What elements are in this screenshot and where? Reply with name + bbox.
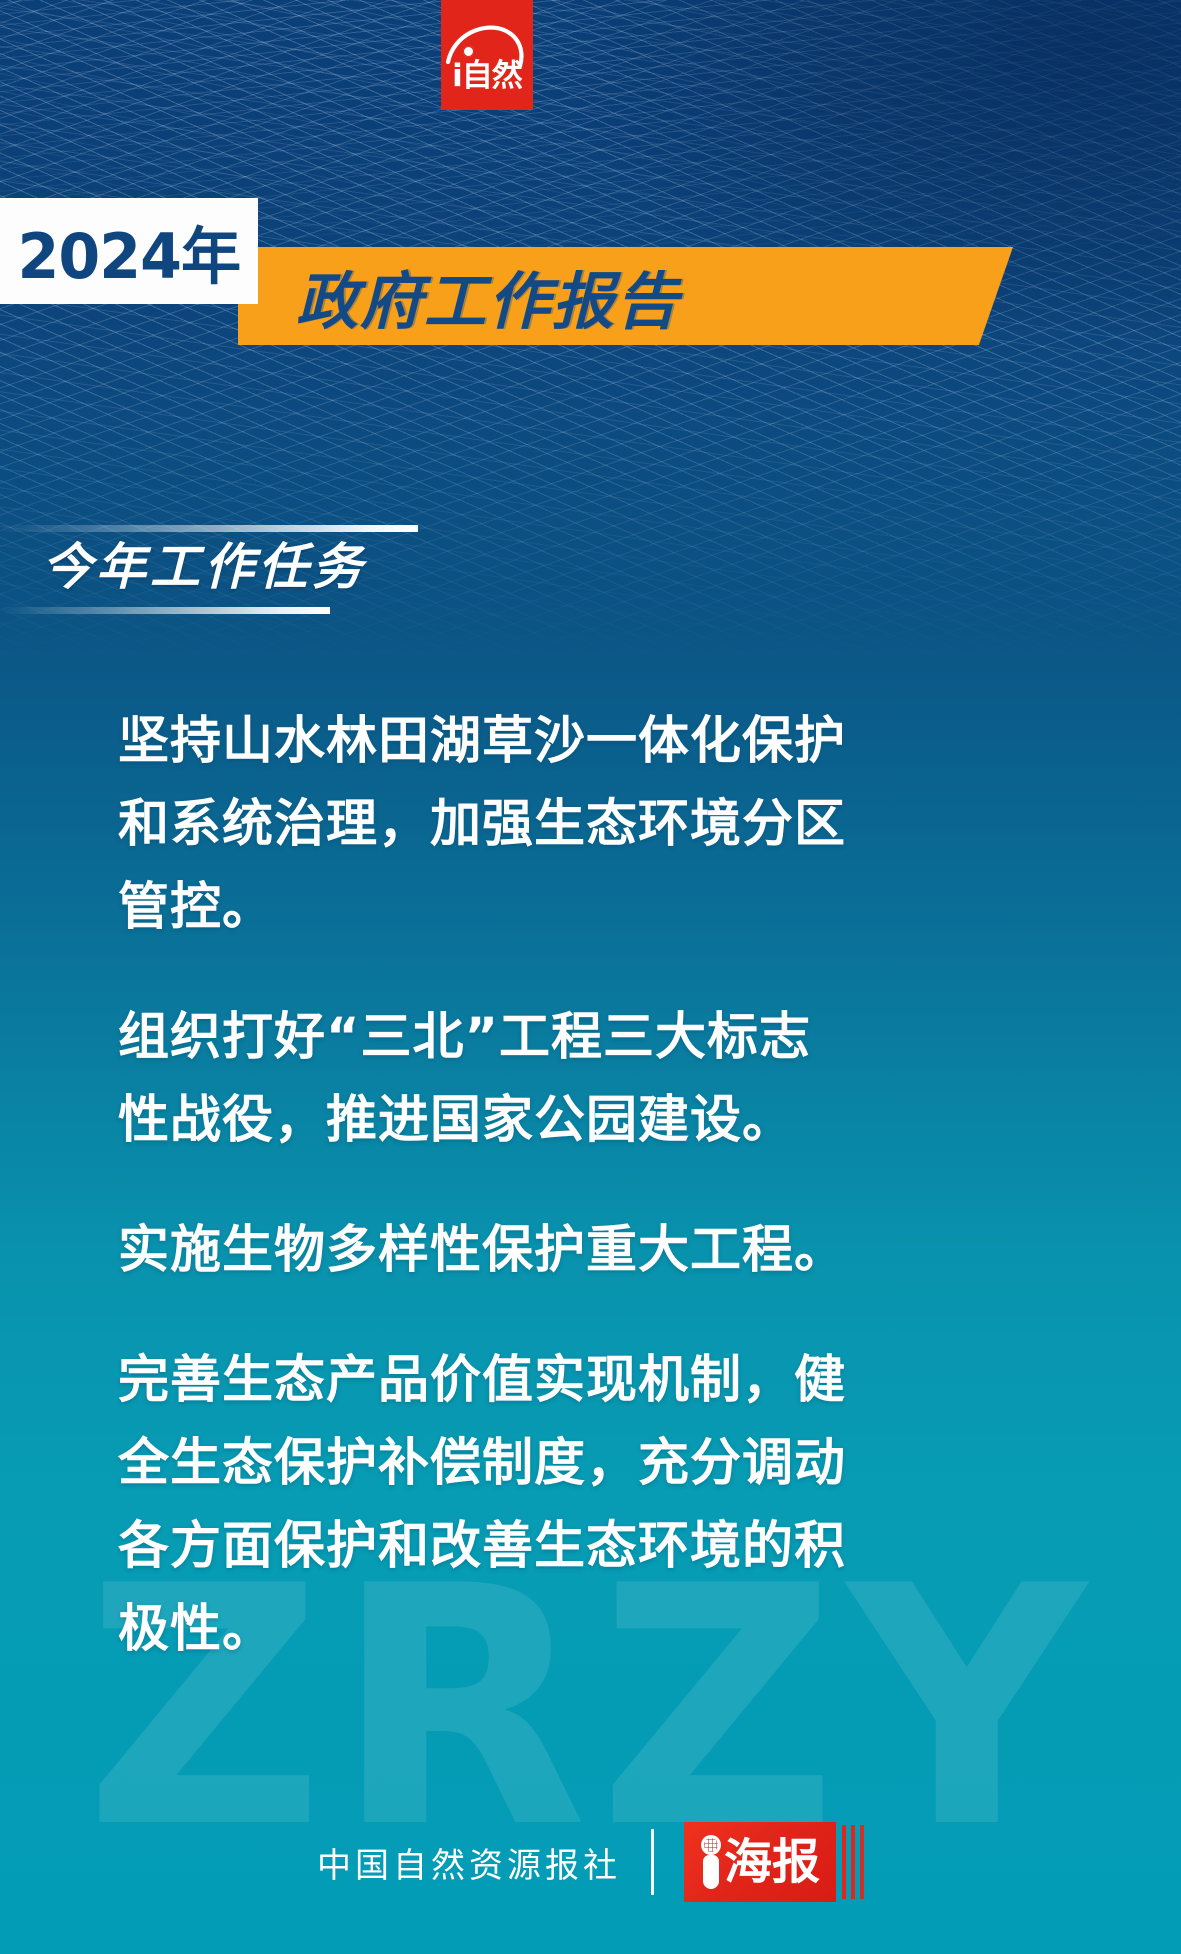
year-label: 2024年 (18, 206, 241, 296)
task-list: 坚持山水林田湖草沙一体化保护和系统治理，加强生态环境分区管控。 组织打好“三北”… (118, 700, 1078, 1718)
footer: 中国自然资源报社 海报 (0, 1822, 1181, 1902)
task-paragraph: 完善生态产品价值实现机制，健全生态保护补偿制度，充分调动各方面保护和改善生态环境… (118, 1339, 858, 1671)
ihaibao-word: 海报 (724, 1838, 820, 1886)
footer-divider (651, 1829, 654, 1895)
section-heading: 今年工作任务 (42, 527, 366, 599)
publisher-name: 中国自然资源报社 (317, 1838, 621, 1887)
ihaibao-stripes (842, 1825, 864, 1899)
task-paragraph: 坚持山水林田湖草沙一体化保护和系统治理，加强生态环境分区管控。 (118, 700, 858, 949)
logo-inner: i自然 (441, 0, 533, 110)
ihaibao-logo: 海报 (684, 1822, 864, 1902)
izran-logo-badge: i自然 (441, 0, 533, 110)
stripe-line (851, 1825, 855, 1899)
ihaibao-i-globe-icon (700, 1835, 722, 1889)
report-title-banner: 政府工作报告 (238, 247, 1013, 345)
report-title: 政府工作报告 (296, 251, 680, 341)
task-paragraph: 组织打好“三北”工程三大标志性战役，推进国家公园建设。 (118, 996, 858, 1162)
section-rule-bottom (0, 607, 330, 614)
logo-wordmark: i自然 (441, 61, 533, 92)
task-paragraph: 实施生物多样性保护重大工程。 (118, 1209, 858, 1292)
globe-icon (701, 1835, 721, 1855)
ihaibao-badge: 海报 (684, 1822, 836, 1902)
logo-globe-dot-icon (463, 46, 474, 57)
year-chip: 2024年 (0, 198, 258, 304)
letter-i-stem (703, 1855, 719, 1889)
stripe-line (842, 1825, 846, 1899)
stripe-line (860, 1825, 864, 1899)
poster-root: i自然 2024年 政府工作报告 今年工作任务 坚持山水林田湖草沙一体化保护和系… (0, 0, 1181, 1954)
